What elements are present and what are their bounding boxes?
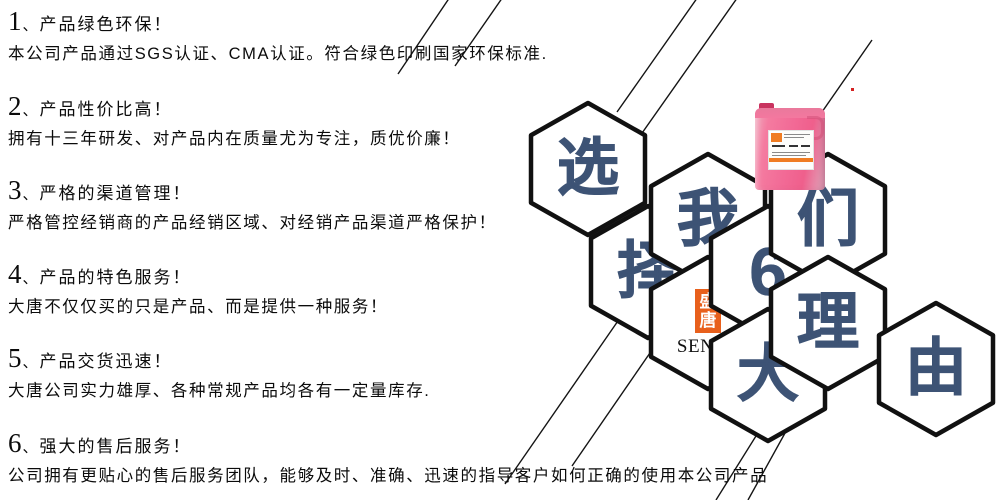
product-bottle-image: [751, 100, 829, 192]
label-line: [784, 134, 810, 135]
label-line: [772, 155, 806, 156]
hex-label-you: 由: [876, 300, 996, 438]
hex-label-li: 理: [768, 254, 888, 392]
banner-canvas: 1 、 产品绿色环保！ 本公司产品通过SGS认证、CMA认证。符合绿色印刷国家环…: [0, 0, 1000, 500]
bottle-label: [768, 130, 814, 170]
label-logo-mark: [771, 133, 782, 142]
label-line: [801, 145, 810, 147]
honeycomb-graphic: 选 择 我 盛 唐 SENTA 6: [0, 0, 1000, 500]
label-line: [772, 145, 785, 147]
hex-cell-li[interactable]: 理: [768, 254, 888, 392]
hex-cell-you[interactable]: 由: [876, 300, 996, 438]
label-line: [789, 145, 798, 147]
label-line: [784, 137, 804, 138]
label-orange-band: [769, 158, 813, 162]
label-line: [772, 152, 810, 153]
